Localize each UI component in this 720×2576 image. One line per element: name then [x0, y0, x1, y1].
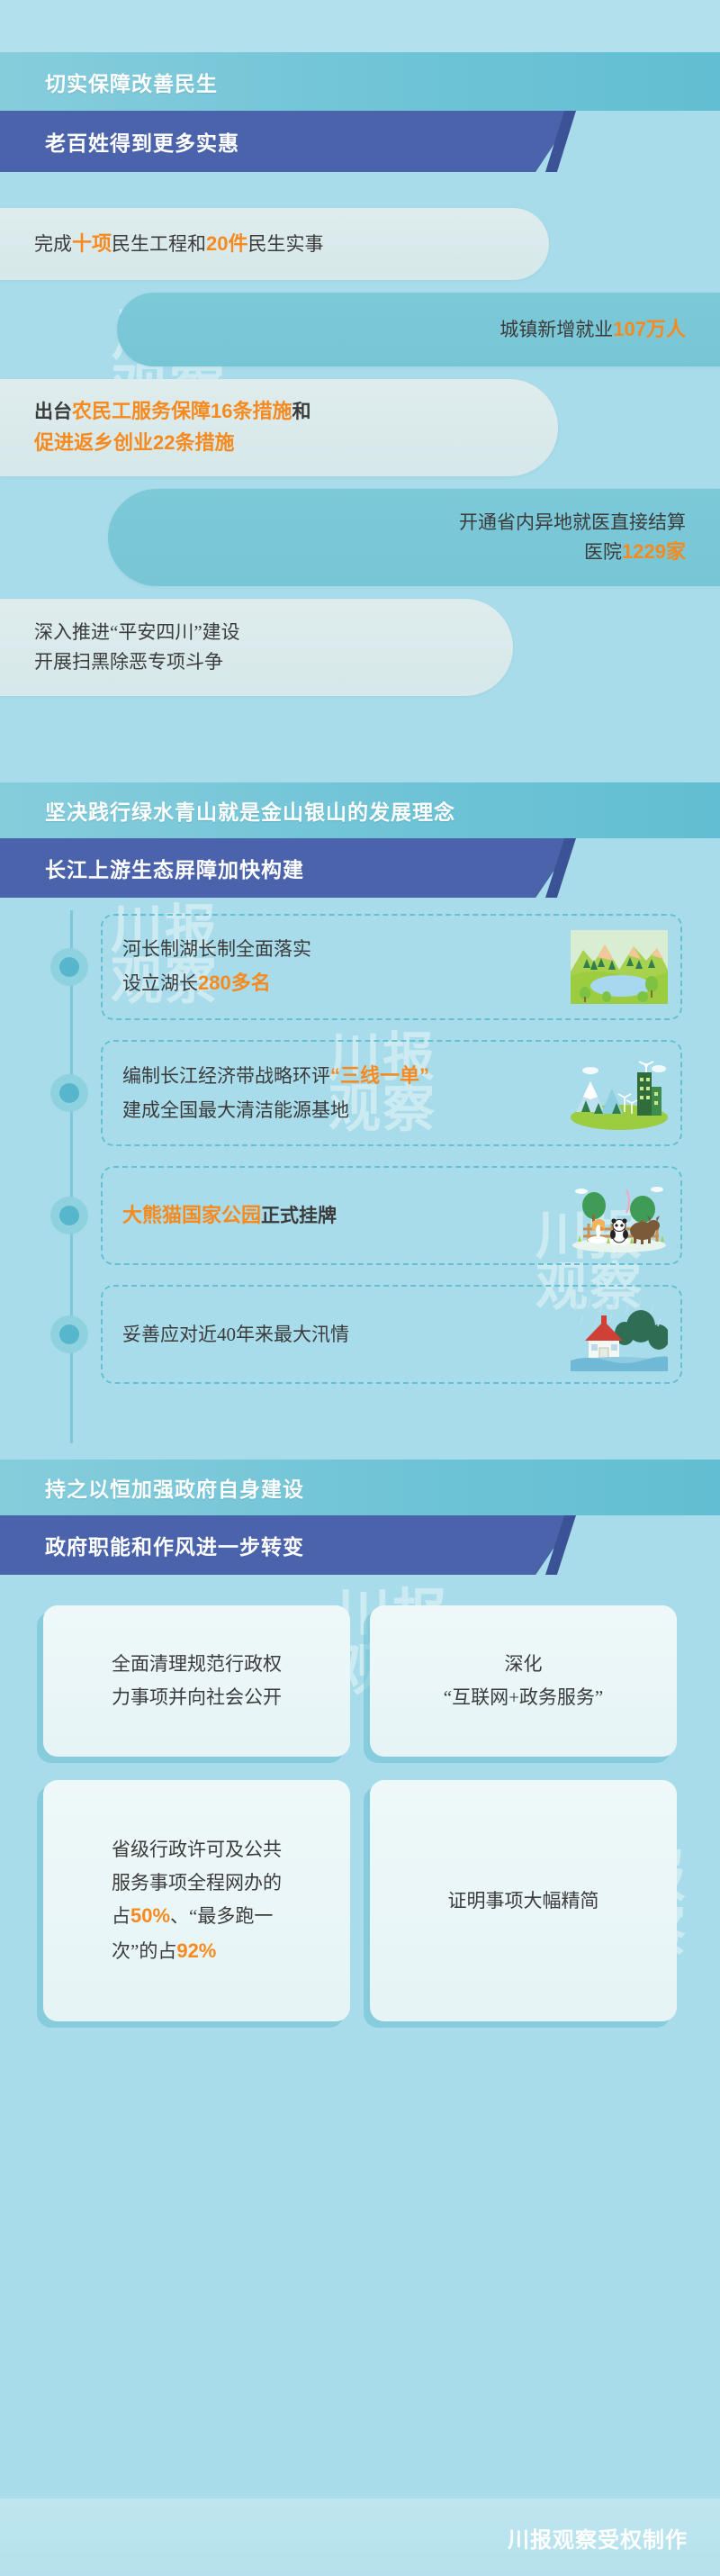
- body-text: 和: [292, 402, 310, 422]
- body-text: 正式挂牌: [261, 1206, 337, 1226]
- section-2-blue-banner: 长江上游生态屏障加快构建: [0, 838, 576, 898]
- card-text-line: 全面清理规范行政权: [112, 1648, 282, 1681]
- card-text: 完成十项民生工程和20件民生实事: [34, 229, 324, 259]
- body-text: 服务事项全程网办的: [112, 1872, 282, 1894]
- timeline-card: 编制长江经济带战略环评“三线一单”建成全国最大清洁能源基地: [101, 1040, 682, 1146]
- section-1-cards: 川报观察 完成十项民生工程和20件民生实事 城镇新增就业107万人 出台农民工服…: [0, 172, 720, 782]
- body-text: 设立湖长: [122, 972, 198, 994]
- card-text: 大熊猫国家公园正式挂牌: [122, 1198, 563, 1234]
- card-text: 证明事项大幅精简: [448, 1885, 599, 1918]
- timeline-card: 河长制湖长制全面落实设立湖长280多名: [101, 914, 682, 1020]
- card-text-line: 河长制湖长制全面落实: [122, 933, 563, 966]
- grid-card: 深化“互联网+政务服务”: [370, 1605, 677, 1757]
- card-text-line: 医院1229家: [459, 537, 686, 567]
- body-text: 妥善应对近40年来最大汛情: [122, 1324, 349, 1345]
- card-text-line: 深化: [444, 1648, 603, 1681]
- body-text: 证明事项大幅精简: [448, 1890, 599, 1912]
- infographic-page: 切实保障改善民生 老百姓得到更多实惠 川报观察 完成十项民生工程和20件民生实事…: [0, 0, 720, 2576]
- card-text-line: 出台农民工服务保障16条措施和: [34, 396, 310, 428]
- body-text: 河长制湖长制全面落实: [122, 938, 311, 960]
- card-text: 全面清理规范行政权力事项并向社会公开: [112, 1648, 282, 1714]
- section-1-teal-title: 切实保障改善民生: [45, 67, 218, 97]
- top-strip: [0, 0, 720, 52]
- body-text: 深入推进“平安四川”建设: [34, 621, 240, 643]
- card-text-line: 编制长江经济带战略环评“三线一单”: [122, 1059, 563, 1094]
- timeline-item: 大熊猫国家公园正式挂牌: [0, 1166, 720, 1265]
- grid-card: 省级行政许可及公共服务事项全程网办的占50%、“最多跑一次”的占92%: [43, 1780, 350, 2021]
- list-item: 开通省内异地就医直接结算医院1229家: [108, 489, 720, 586]
- section-2-teal-title: 坚决践行绿水青山就是金山银山的发展理念: [45, 795, 455, 826]
- panda-park-illustration: [571, 1179, 668, 1252]
- timeline-item: 河长制湖长制全面落实设立湖长280多名: [0, 914, 720, 1020]
- highlight-value: 十项: [72, 232, 112, 255]
- highlight-value: 1229家: [622, 540, 686, 563]
- highlight-value: 农民工服务保障16条措施: [72, 400, 292, 422]
- section-3-blue-banner-wrap: 政府职能和作风进一步转变: [0, 1515, 720, 1575]
- section-3-grid: 川报观察 川报观察 全面清理规范行政权力事项并向社会公开 深化“互联网+政务服务…: [0, 1575, 720, 2021]
- body-text: 医院: [584, 541, 622, 563]
- card-text-line: 设立湖长280多名: [122, 966, 563, 1001]
- card-text-line: “互联网+政务服务”: [444, 1681, 603, 1714]
- card-text-line: 省级行政许可及公共: [112, 1833, 282, 1866]
- list-item: 完成十项民生工程和20件民生实事: [0, 208, 549, 280]
- card-text-line: 服务事项全程网办的: [112, 1866, 282, 1900]
- card-text: 深化“互联网+政务服务”: [444, 1648, 603, 1714]
- section-1-blue-banner: 老百姓得到更多实惠: [0, 111, 576, 172]
- card-text: 河长制湖长制全面落实设立湖长280多名: [122, 933, 563, 1000]
- card-text-line: 力事项并向社会公开: [112, 1681, 282, 1714]
- card-text-line: 建成全国最大清洁能源基地: [122, 1094, 563, 1127]
- timeline-item: 编制长江经济带战略环评“三线一单”建成全国最大清洁能源基地: [0, 1040, 720, 1146]
- grid-card: 证明事项大幅精简: [370, 1780, 677, 2021]
- footer-credit-bar: 川报观察受权制作: [0, 2499, 720, 2576]
- card-text-line: 城镇新增就业107万人: [499, 314, 686, 345]
- clean-energy-city-illustration: [571, 1056, 668, 1130]
- section-1-blue-banner-wrap: 老百姓得到更多实惠: [0, 111, 720, 172]
- body-text: 省级行政许可及公共: [112, 1839, 282, 1860]
- section-2-blue-title: 长江上游生态屏障加快构建: [45, 853, 304, 883]
- body-text: 开通省内异地就医直接结算: [459, 511, 686, 533]
- card-text: 开通省内异地就医直接结算医院1229家: [459, 508, 686, 568]
- highlight-value: 107万人: [613, 318, 686, 340]
- timeline-card: 妥善应对近40年来最大汛情: [101, 1285, 682, 1384]
- body-text: 编制长江经济带战略环评: [122, 1065, 330, 1087]
- timeline-dot-icon: [50, 1074, 88, 1112]
- body-text: 、“最多跑一: [170, 1905, 273, 1927]
- highlight-value: 大熊猫国家公园: [122, 1204, 261, 1226]
- body-text: 全面清理规范行政权: [112, 1653, 282, 1675]
- highlight-value: 280多名: [198, 972, 271, 994]
- card-text: 深入推进“平安四川”建设开展扫黑除恶专项斗争: [34, 618, 240, 676]
- grid-card: 全面清理规范行政权力事项并向社会公开: [43, 1605, 350, 1757]
- body-text: 占: [112, 1905, 130, 1927]
- body-text: 出台: [34, 402, 72, 422]
- body-text: 民生工程和: [112, 233, 206, 255]
- card-text: 编制长江经济带战略环评“三线一单”建成全国最大清洁能源基地: [122, 1059, 563, 1126]
- section-3-blue-banner: 政府职能和作风进一步转变: [0, 1515, 576, 1575]
- body-text: 完成: [34, 233, 72, 255]
- section-2-blue-banner-wrap: 长江上游生态屏障加快构建: [0, 838, 720, 898]
- card-text-line: 完成十项民生工程和20件民生实事: [34, 229, 324, 259]
- card-text: 城镇新增就业107万人: [499, 314, 686, 345]
- body-text: 城镇新增就业: [499, 319, 613, 340]
- timeline-item: 妥善应对近40年来最大汛情: [0, 1285, 720, 1384]
- body-text: 民生实事: [248, 233, 324, 255]
- card-text-line: 次”的占92%: [112, 1934, 282, 1969]
- body-text: 次”的占: [112, 1940, 176, 1962]
- timeline-dot-icon: [50, 1315, 88, 1353]
- timeline-dot-icon: [50, 948, 88, 986]
- highlight-value: 92%: [176, 1939, 216, 1962]
- highlight-value: 50%: [130, 1904, 170, 1927]
- card-text-line: 促进返乡创业22条措施: [34, 428, 310, 459]
- card-text: 出台农民工服务保障16条措施和促进返乡创业22条措施: [34, 396, 310, 458]
- card-text-line: 深入推进“平安四川”建设: [34, 618, 240, 647]
- card-text-line: 妥善应对近40年来最大汛情: [122, 1318, 563, 1351]
- section-2-timeline: 川报观察 川报观察 川报观察 河长制湖长制全面落实设立湖长280多名: [0, 898, 720, 1460]
- section-3-blue-title: 政府职能和作风进一步转变: [45, 1530, 304, 1560]
- body-text: 建成全国最大清洁能源基地: [122, 1099, 349, 1121]
- card-text-line: 开展扫黑除恶专项斗争: [34, 647, 240, 677]
- footer-credit-text: 川报观察受权制作: [508, 2522, 688, 2553]
- highlight-value: 促进返乡创业22条措施: [34, 431, 234, 454]
- card-text-line: 开通省内异地就医直接结算: [459, 508, 686, 538]
- list-item: 出台农民工服务保障16条措施和促进返乡创业22条措施: [0, 379, 558, 476]
- section-3-teal-title: 持之以恒加强政府自身建设: [45, 1472, 304, 1503]
- card-text-line: 证明事项大幅精简: [448, 1885, 599, 1918]
- section-1-blue-title: 老百姓得到更多实惠: [45, 126, 239, 157]
- card-text: 妥善应对近40年来最大汛情: [122, 1318, 563, 1351]
- highlight-value: “三线一单”: [330, 1064, 429, 1087]
- card-text: 省级行政许可及公共服务事项全程网办的占50%、“最多跑一次”的占92%: [112, 1833, 282, 1969]
- card-text-line: 占50%、“最多跑一: [112, 1899, 282, 1934]
- timeline-card: 大熊猫国家公园正式挂牌: [101, 1166, 682, 1265]
- section-3-teal-banner: 持之以恒加强政府自身建设: [0, 1460, 720, 1515]
- mountain-lake-illustration: [571, 930, 668, 1004]
- card-text-line: 大熊猫国家公园正式挂牌: [122, 1198, 563, 1234]
- body-text: 深化: [504, 1653, 542, 1675]
- body-text: 力事项并向社会公开: [112, 1686, 282, 1708]
- rain-flood-house-illustration: [571, 1297, 668, 1371]
- timeline-dot-icon: [50, 1197, 88, 1234]
- highlight-value: 20件: [206, 232, 247, 255]
- list-item: 城镇新增就业107万人: [117, 293, 720, 366]
- section-1-teal-banner: 切实保障改善民生: [0, 52, 720, 111]
- body-text: 开展扫黑除恶专项斗争: [34, 651, 223, 673]
- section-2-teal-banner: 坚决践行绿水青山就是金山银山的发展理念: [0, 782, 720, 838]
- list-item: 深入推进“平安四川”建设开展扫黑除恶专项斗争: [0, 599, 513, 696]
- body-text: “互联网+政务服务”: [444, 1686, 603, 1708]
